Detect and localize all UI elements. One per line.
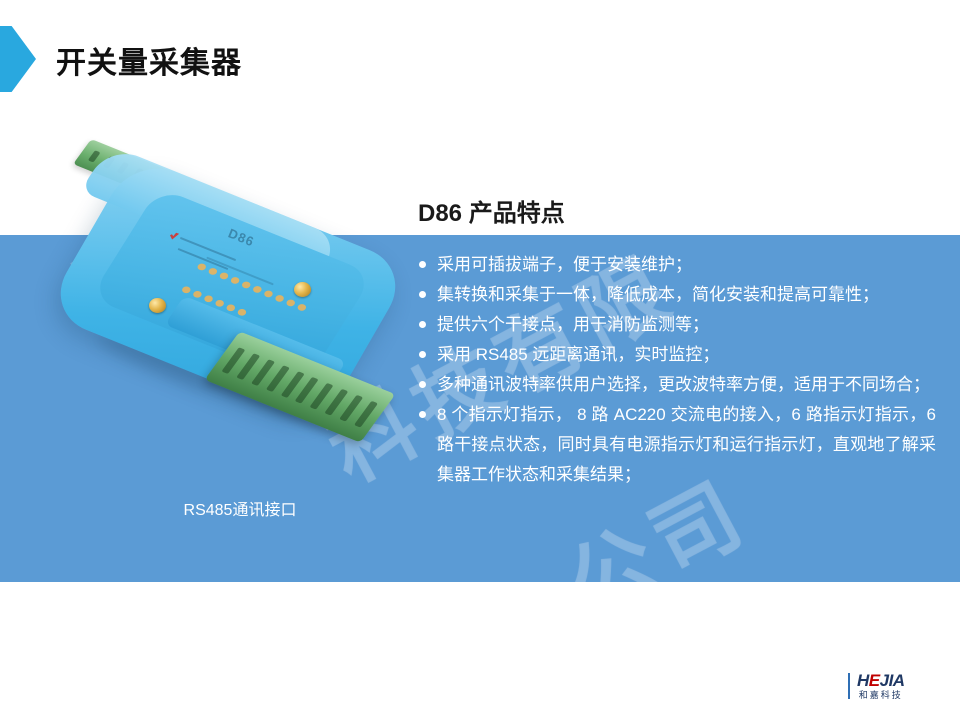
feature-item: 提供六个干接点，用于消防监测等；: [418, 310, 936, 340]
title-marker-icon: [0, 26, 36, 92]
bullet-icon: [419, 321, 426, 328]
bullet-icon: [419, 411, 426, 418]
product-photo: D86: [18, 130, 418, 460]
screw-icon: [294, 282, 311, 297]
feature-item: 多种通讯波特率供用户选择，更改波特率方便，适用于不同场合；: [418, 370, 936, 400]
bullet-icon: [419, 261, 426, 268]
logo-chinese-text: 和嘉科技: [859, 690, 903, 701]
bullet-icon: [419, 351, 426, 358]
feature-list: 采用可插拔端子，便于安装维护； 集转换和采集于一体，降低成本，简化安装和提高可靠…: [418, 250, 936, 490]
feature-item-text: 采用 RS485 远距离通讯，实时监控；: [437, 345, 719, 364]
bullet-icon: [419, 381, 426, 388]
feature-item: 集转换和采集于一体，降低成本，简化安装和提高可靠性；: [418, 280, 936, 310]
bullet-icon: [419, 291, 426, 298]
feature-item-text: 多种通讯波特率供用户选择，更改波特率方便，适用于不同场合；: [437, 375, 930, 394]
feature-item-text: 集转换和采集于一体，降低成本，简化安装和提高可靠性；: [437, 285, 879, 304]
logo-latin-suffix: JIA: [880, 671, 905, 690]
feature-heading: D86 产品特点: [418, 198, 565, 230]
logo-latin-accent: E: [869, 671, 880, 690]
slide-root: 开关量采集器 天津市和嘉 科技有限 公司 D86: [0, 0, 960, 720]
feature-item-text: 采用可插拔端子，便于安装维护；: [437, 255, 692, 274]
company-logo: HEJIA 和嘉科技: [848, 668, 948, 704]
logo-latin-text: HEJIA: [857, 672, 905, 690]
logo-bar-icon: [848, 673, 850, 699]
logo-latin-prefix: H: [857, 671, 869, 690]
feature-item: 采用 RS485 远距离通讯，实时监控；: [418, 340, 936, 370]
product-photo-caption: RS485通讯接口: [110, 500, 370, 522]
feature-item-text: 提供六个干接点，用于消防监测等；: [437, 315, 709, 334]
feature-item: 8 个指示灯指示， 8 路 AC220 交流电的接入，6 路指示灯指示，6路干接…: [418, 400, 936, 490]
logo-text-wrap: HEJIA 和嘉科技: [857, 672, 905, 701]
feature-item-text: 8 个指示灯指示， 8 路 AC220 交流电的接入，6 路指示灯指示，6路干接…: [437, 405, 936, 484]
screw-icon: [149, 298, 166, 313]
product-photo-stage: D86: [18, 130, 418, 460]
page-title: 开关量采集器: [56, 44, 242, 84]
feature-item: 采用可插拔端子，便于安装维护；: [418, 250, 936, 280]
